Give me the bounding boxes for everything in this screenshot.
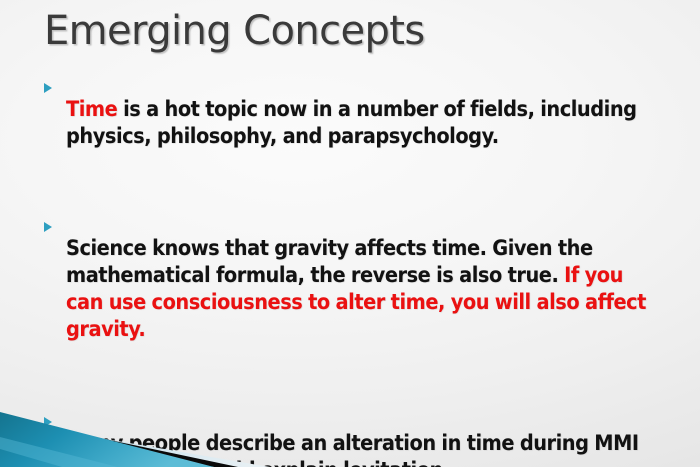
bullet-2-segment-1: Science knows that gravity affects time.… <box>66 236 593 288</box>
bullet-1-segment-1: Time <box>66 97 117 122</box>
bullet-list: Time is a hot topic now in a number of f… <box>44 74 656 467</box>
bullet-1-segment-2: is a hot topic now in a number of fields… <box>66 97 637 149</box>
bullet-gap-2 <box>44 364 656 408</box>
page-title: Emerging Concepts <box>44 6 660 56</box>
slide-canvas: Emerging Concepts Time is a hot topic no… <box>0 0 700 467</box>
bullet-gap-1 <box>44 171 656 213</box>
bullet-text-1: Time is a hot topic now in a number of f… <box>66 96 656 150</box>
list-item: Science knows that gravity affects time.… <box>44 213 656 364</box>
list-item: Time is a hot topic now in a number of f… <box>44 74 656 171</box>
triangle-right-icon <box>44 213 66 232</box>
title-area: Emerging Concepts <box>44 6 660 62</box>
bullet-3-segment-1: Many people describe an alteration in ti… <box>66 431 639 467</box>
bullet-text-2: Science knows that gravity affects time.… <box>66 235 656 343</box>
bullet-text-3: Many people describe an alteration in ti… <box>66 430 656 467</box>
triangle-right-icon <box>44 74 66 93</box>
triangle-right-icon <box>44 408 66 427</box>
list-item: Many people describe an alteration in ti… <box>44 408 656 467</box>
